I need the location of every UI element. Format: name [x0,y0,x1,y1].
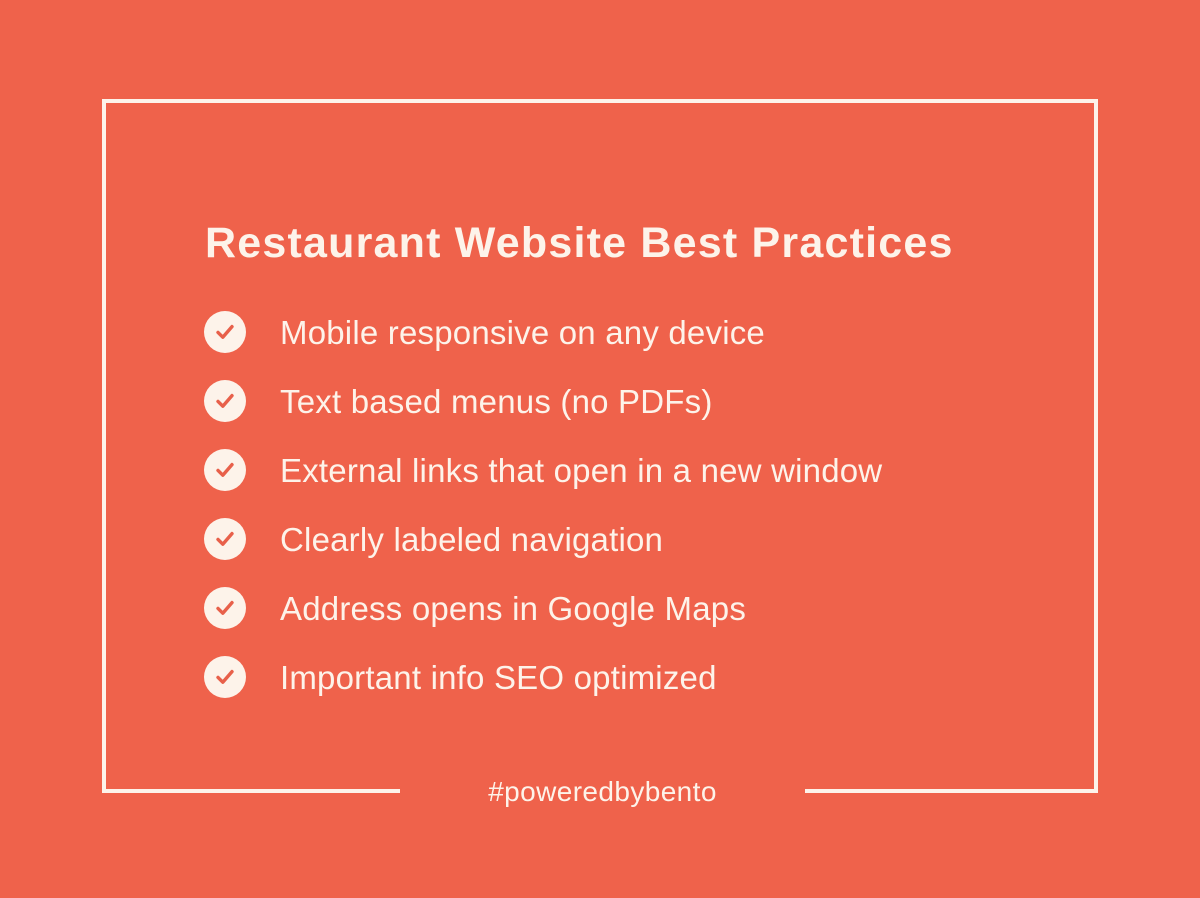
frame-bottom-left-rule [102,789,400,793]
list-item-label: Clearly labeled navigation [280,523,663,556]
list-item-label: Address opens in Google Maps [280,592,746,625]
poster-canvas: Restaurant Website Best Practices Mobile… [0,0,1200,898]
list-item-label: Important info SEO optimized [280,661,717,694]
list-item: Text based menus (no PDFs) [204,380,1024,422]
list-item: External links that open in a new window [204,449,1024,491]
list-item: Important info SEO optimized [204,656,1024,698]
list-item: Address opens in Google Maps [204,587,1024,629]
best-practices-checklist: Mobile responsive on any device Text bas… [204,311,1024,725]
list-item: Clearly labeled navigation [204,518,1024,560]
list-item-label: External links that open in a new window [280,454,882,487]
list-item-label: Text based menus (no PDFs) [280,385,713,418]
list-item: Mobile responsive on any device [204,311,1024,353]
check-circle-icon [204,587,246,629]
check-circle-icon [204,449,246,491]
check-circle-icon [204,311,246,353]
list-item-label: Mobile responsive on any device [280,316,765,349]
footer-hashtag: #poweredbybento [400,775,805,809]
check-circle-icon [204,656,246,698]
page-title: Restaurant Website Best Practices [205,219,1005,267]
frame-bottom-right-rule [805,789,1098,793]
check-circle-icon [204,380,246,422]
check-circle-icon [204,518,246,560]
